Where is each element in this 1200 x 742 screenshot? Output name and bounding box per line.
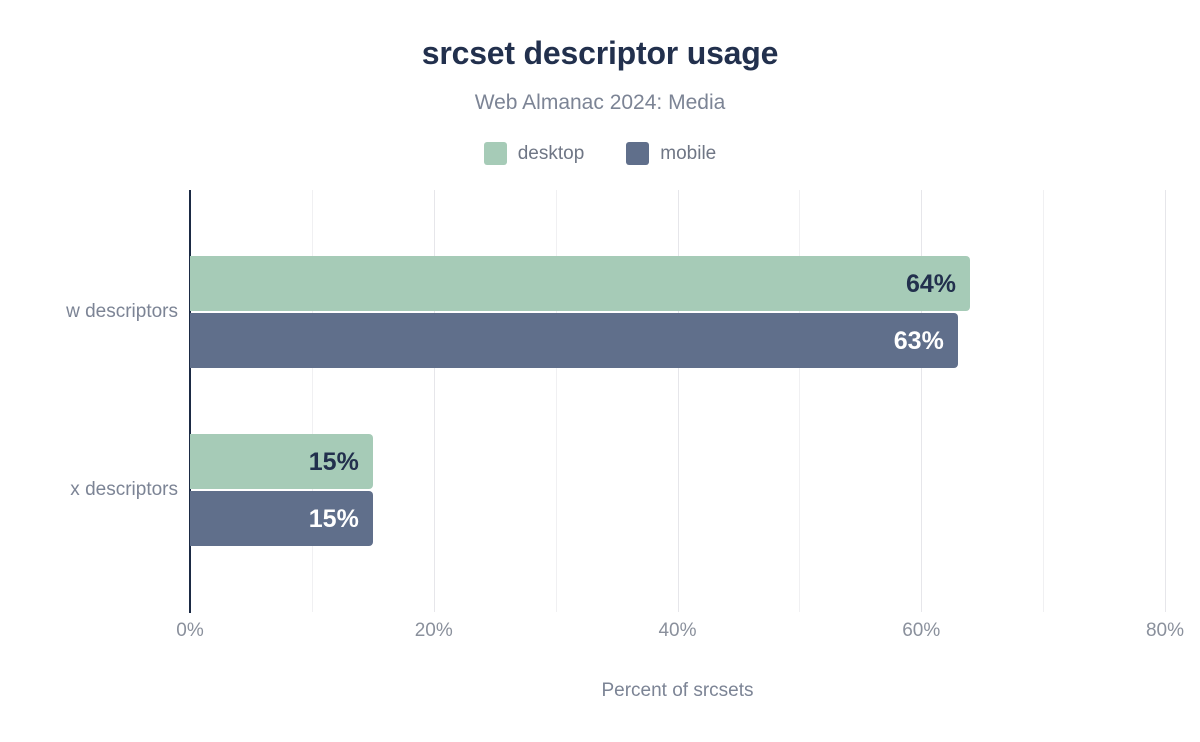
gridline-40 bbox=[678, 190, 679, 612]
plot-area: 64%63%15%15% bbox=[190, 190, 1165, 612]
bar[interactable]: 15% bbox=[190, 434, 373, 489]
gridline-30 bbox=[556, 190, 557, 612]
bar[interactable]: 64% bbox=[190, 256, 970, 311]
legend-item-desktop[interactable]: desktop bbox=[484, 142, 585, 165]
gridline-60 bbox=[921, 190, 922, 612]
bar[interactable]: 63% bbox=[190, 313, 958, 368]
chart-legend: desktop mobile bbox=[0, 142, 1200, 165]
bar-value-label: 15% bbox=[309, 448, 359, 476]
bar-value-label: 63% bbox=[894, 327, 944, 355]
x-tick-0%: 0% bbox=[130, 618, 250, 644]
bar-value-label: 15% bbox=[309, 505, 359, 533]
legend-swatch-desktop bbox=[484, 142, 507, 165]
x-axis-title: Percent of srcsets bbox=[190, 678, 1165, 704]
gridline-80 bbox=[1165, 190, 1166, 612]
bar[interactable]: 15% bbox=[190, 491, 373, 546]
legend-swatch-mobile bbox=[626, 142, 649, 165]
gridline-10 bbox=[312, 190, 313, 612]
category-label: x descriptors bbox=[0, 478, 178, 502]
gridline-20 bbox=[434, 190, 435, 612]
x-tick-40%: 40% bbox=[618, 618, 738, 644]
x-tick-60%: 60% bbox=[861, 618, 981, 644]
chart-title: srcset descriptor usage bbox=[0, 33, 1200, 73]
chart-subtitle: Web Almanac 2024: Media bbox=[0, 89, 1200, 117]
x-tick-80%: 80% bbox=[1105, 618, 1200, 644]
legend-label-desktop: desktop bbox=[518, 142, 585, 165]
bar-value-label: 64% bbox=[906, 270, 956, 298]
legend-item-mobile[interactable]: mobile bbox=[626, 142, 716, 165]
x-tick-20%: 20% bbox=[374, 618, 494, 644]
gridline-50 bbox=[799, 190, 800, 612]
category-label: w descriptors bbox=[0, 300, 178, 324]
legend-label-mobile: mobile bbox=[660, 142, 716, 165]
gridline-70 bbox=[1043, 190, 1044, 612]
bar-chart: srcset descriptor usage Web Almanac 2024… bbox=[0, 0, 1200, 742]
